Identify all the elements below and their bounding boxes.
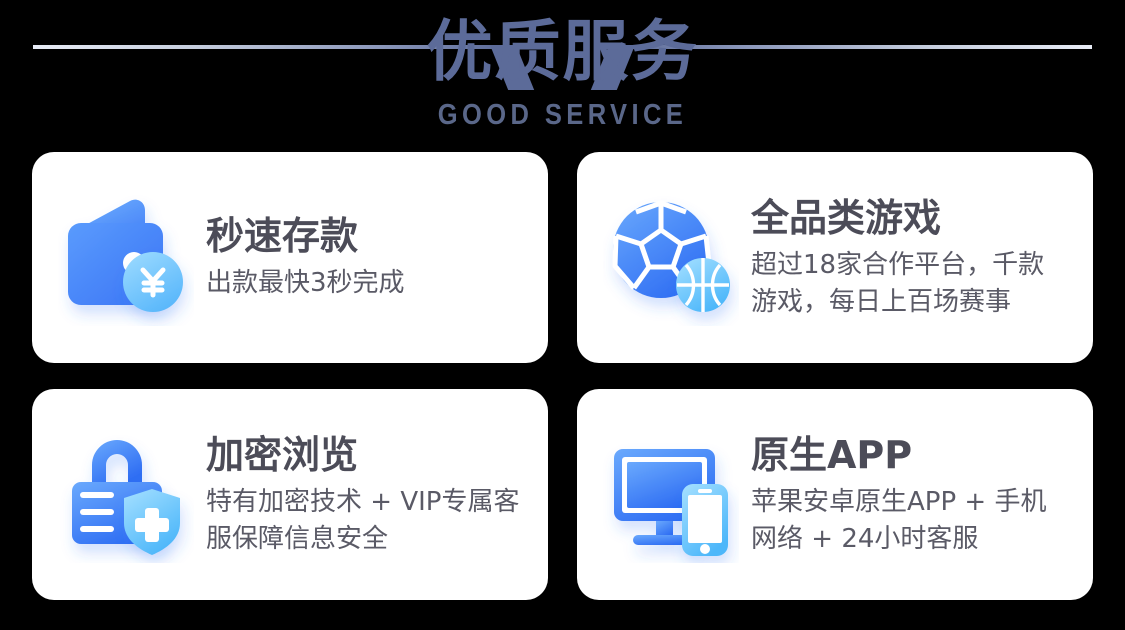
feature-card-grid: 秒速存款 出款最快3秒完成 — [32, 152, 1093, 600]
feature-card-games[interactable]: 全品类游戏 超过18家合作平台，千款 游戏，每日上百场赛事 — [577, 152, 1093, 363]
card-title: 秒速存款 — [206, 213, 530, 259]
card-subtitle: 超过18家合作平台，千款 游戏，每日上百场赛事 — [751, 247, 1075, 321]
monitor-phone-icon — [603, 427, 739, 563]
card-subtitle-line: 游戏，每日上百场赛事 — [751, 284, 1075, 321]
title-block: 优质服务 GOOD SERVICE — [0, 0, 1125, 132]
card-subtitle-line: 超过18家合作平台，千款 — [751, 247, 1075, 284]
feature-card-encryption[interactable]: 加密浏览 特有加密技术 + VIP专属客 服保障信息安全 — [32, 389, 548, 600]
card-title: 原生APP — [751, 432, 1075, 478]
lock-shield-icon — [58, 427, 194, 563]
card-subtitle-line: 特有加密技术 + VIP专属客 — [206, 484, 530, 521]
soccer-basketball-icon — [603, 190, 739, 326]
card-subtitle-line: 网络 + 24小时客服 — [751, 521, 1075, 558]
card-text: 加密浏览 特有加密技术 + VIP专属客 服保障信息安全 — [206, 432, 530, 558]
card-text: 原生APP 苹果安卓原生APP + 手机 网络 + 24小时客服 — [751, 432, 1075, 558]
page-title-cn: 优质服务 — [0, 0, 1125, 98]
card-subtitle-line: 出款最快3秒完成 — [206, 265, 530, 302]
card-text: 全品类游戏 超过18家合作平台，千款 游戏，每日上百场赛事 — [751, 195, 1075, 321]
page-header: 优质服务 GOOD SERVICE — [0, 0, 1125, 142]
card-subtitle-line: 服保障信息安全 — [206, 521, 530, 558]
card-subtitle: 特有加密技术 + VIP专属客 服保障信息安全 — [206, 484, 530, 558]
card-title: 全品类游戏 — [751, 195, 1075, 241]
card-subtitle: 出款最快3秒完成 — [206, 265, 530, 302]
card-subtitle-line: 苹果安卓原生APP + 手机 — [751, 484, 1075, 521]
page-title-en: GOOD SERVICE — [68, 98, 1058, 132]
feature-card-native-app[interactable]: 原生APP 苹果安卓原生APP + 手机 网络 + 24小时客服 — [577, 389, 1093, 600]
feature-card-deposit[interactable]: 秒速存款 出款最快3秒完成 — [32, 152, 548, 363]
wallet-yen-icon — [58, 190, 194, 326]
card-text: 秒速存款 出款最快3秒完成 — [206, 213, 530, 302]
card-subtitle: 苹果安卓原生APP + 手机 网络 + 24小时客服 — [751, 484, 1075, 558]
card-title: 加密浏览 — [206, 432, 530, 478]
